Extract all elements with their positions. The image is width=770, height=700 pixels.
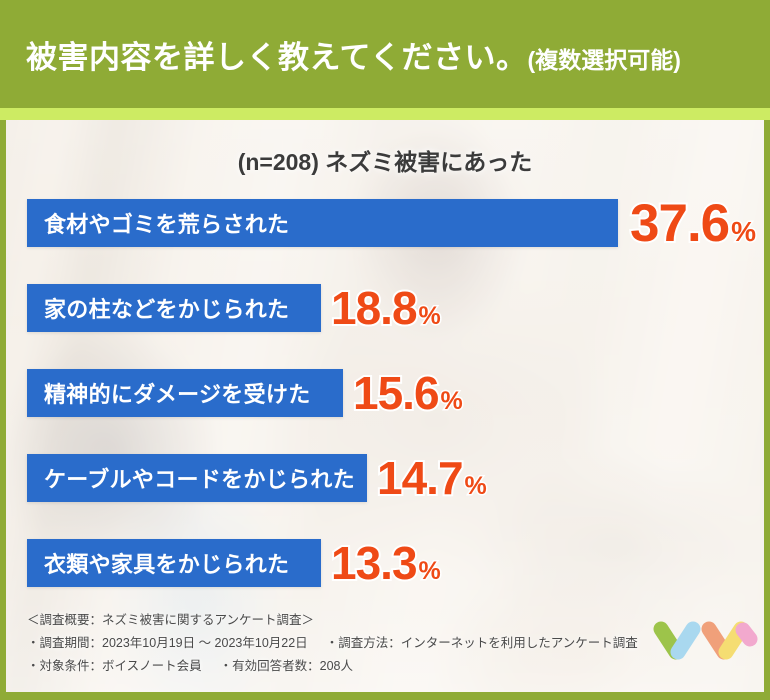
bar-label: ケーブルやコードをかじられた: [44, 462, 355, 494]
frame-left-border: [0, 120, 6, 700]
bar-fill: 食材やゴミを荒らされた: [27, 199, 618, 247]
survey-respondents: ・有効回答者数：208人: [220, 659, 353, 673]
bar-value-percent-sign: %: [465, 474, 487, 499]
bar-value-number: 37.6: [630, 197, 729, 250]
bar-label: 食材やゴミを荒らされた: [44, 207, 289, 239]
bar-value: 37.6 %: [630, 197, 756, 250]
survey-notes-line-3: ・対象条件：ボイスノート会員・有効回答者数：208人: [27, 655, 727, 678]
survey-notes-line-1: ＜調査概要：ネズミ被害に関するアンケート調査＞: [27, 609, 727, 632]
frame-bottom-border: [0, 692, 770, 700]
bar-value: 15.6 %: [353, 370, 463, 416]
header-band: 被害内容を詳しく教えてください。(複数選択可能): [0, 0, 770, 108]
page-title-main: 被害内容を詳しく教えてください。: [26, 40, 528, 75]
bar-value-number: 18.8: [331, 285, 417, 331]
survey-notes: ＜調査概要：ネズミ被害に関するアンケート調査＞ ・調査期間：2023年10月19…: [27, 609, 727, 678]
bar-chart: (n=208) ネズミ被害にあった 食材やゴミを荒らされた 37.6 % 家の柱…: [6, 120, 764, 692]
bar-value: 14.7 %: [377, 455, 487, 501]
accent-strip: [0, 108, 770, 120]
bar-fill: 衣類や家具をかじられた: [27, 539, 321, 587]
survey-target: ・対象条件：ボイスノート会員: [27, 659, 202, 673]
chart-bar-row: 食材やゴミを荒らされた 37.6 %: [27, 199, 756, 247]
frame-right-border: [764, 120, 770, 700]
bar-fill: 家の柱などをかじられた: [27, 284, 321, 332]
bar-value-number: 13.3: [331, 540, 417, 586]
page-title: 被害内容を詳しく教えてください。(複数選択可能): [26, 32, 681, 77]
bar-label: 家の柱などをかじられた: [44, 292, 289, 324]
bar-value-percent-sign: %: [731, 218, 756, 246]
bar-value-percent-sign: %: [419, 559, 441, 584]
bar-fill: 精神的にダメージを受けた: [27, 369, 343, 417]
survey-period: ・調査期間：2023年10月19日 ～ 2023年10月22日: [27, 636, 308, 650]
bar-fill: ケーブルやコードをかじられた: [27, 454, 367, 502]
chart-bar-row: ケーブルやコードをかじられた 14.7 %: [27, 454, 487, 502]
page-title-sub: (複数選択可能): [528, 47, 681, 73]
bar-value-percent-sign: %: [419, 304, 441, 329]
bar-value: 18.8 %: [331, 285, 441, 331]
survey-method: ・調査方法：インターネットを利用したアンケート調査: [326, 636, 638, 650]
bar-value-percent-sign: %: [441, 389, 463, 414]
bar-value: 13.3 %: [331, 540, 441, 586]
bar-value-number: 15.6: [353, 370, 439, 416]
survey-notes-line-2: ・調査期間：2023年10月19日 ～ 2023年10月22日・調査方法：インタ…: [27, 632, 727, 655]
bar-label: 精神的にダメージを受けた: [44, 377, 311, 409]
bar-label: 衣類や家具をかじられた: [44, 547, 289, 579]
voicenote-logo-icon: [651, 621, 759, 667]
chart-bar-row: 衣類や家具をかじられた 13.3 %: [27, 539, 441, 587]
chart-bar-row: 精神的にダメージを受けた 15.6 %: [27, 369, 463, 417]
chart-bar-row: 家の柱などをかじられた 18.8 %: [27, 284, 441, 332]
chart-panel: (n=208) ネズミ被害にあった 食材やゴミを荒らされた 37.6 % 家の柱…: [6, 120, 764, 692]
bar-value-number: 14.7: [377, 455, 463, 501]
infographic-root: 被害内容を詳しく教えてください。(複数選択可能) (n=208) ネズミ被害にあ…: [0, 0, 770, 700]
chart-subtitle: (n=208) ネズミ被害にあった: [6, 143, 764, 177]
